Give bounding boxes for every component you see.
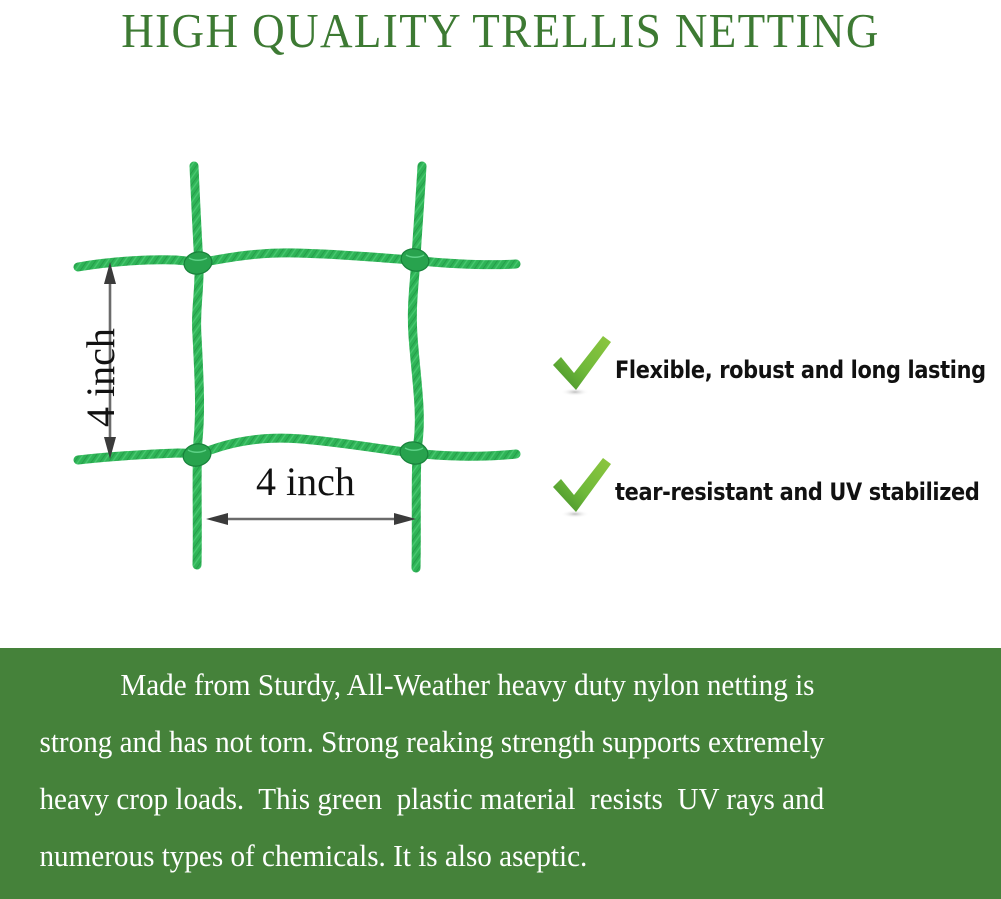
horizontal-cord-bottom	[78, 438, 516, 460]
mesh-cords	[78, 166, 516, 568]
feature-label: tear-resistant and UV stabilized	[615, 478, 979, 506]
description-line: numerous types of chemicals. It is also …	[0, 827, 941, 884]
green-check-icon	[545, 452, 619, 526]
netting-diagram: 4 inch 4 inch	[60, 140, 540, 590]
description-line: heavy crop loads. This green plastic mat…	[0, 770, 941, 827]
vertical-cord-right	[412, 166, 422, 568]
top-right-knot	[399, 246, 431, 274]
horizontal-dimension-label: 4 inch	[256, 458, 355, 505]
description-line: Made from Sturdy, All-Weather heavy duty…	[0, 656, 941, 713]
feature-item-tear-resistant: tear-resistant and UV stabilized	[545, 452, 975, 574]
page-title: HIGH QUALITY TRELLIS NETTING	[40, 2, 961, 60]
product-infographic: HIGH QUALITY TRELLIS NETTING	[0, 0, 1001, 899]
bottom-left-knot	[181, 441, 213, 469]
green-check-icon	[545, 330, 619, 404]
vertical-cord-left	[194, 166, 200, 565]
mesh-knot-highlights	[188, 255, 424, 452]
description-text: Made from Sturdy, All-Weather heavy duty…	[0, 656, 941, 884]
top-left-knot	[182, 249, 214, 276]
description-panel: Made from Sturdy, All-Weather heavy duty…	[0, 648, 1001, 899]
feature-label: Flexible, robust and long lasting	[615, 356, 986, 384]
horizontal-cord-top	[78, 253, 516, 267]
bottom-right-knot	[398, 439, 430, 466]
description-line: strong and has not torn. Strong reaking …	[0, 713, 941, 770]
feature-item-flexible: Flexible, robust and long lasting	[545, 330, 975, 452]
feature-list: Flexible, robust and long lasting	[545, 330, 975, 574]
vertical-dimension-label: 4 inch	[77, 328, 124, 427]
netting-mesh-illustration	[60, 140, 540, 590]
horizontal-dimension-arrow	[206, 513, 416, 525]
